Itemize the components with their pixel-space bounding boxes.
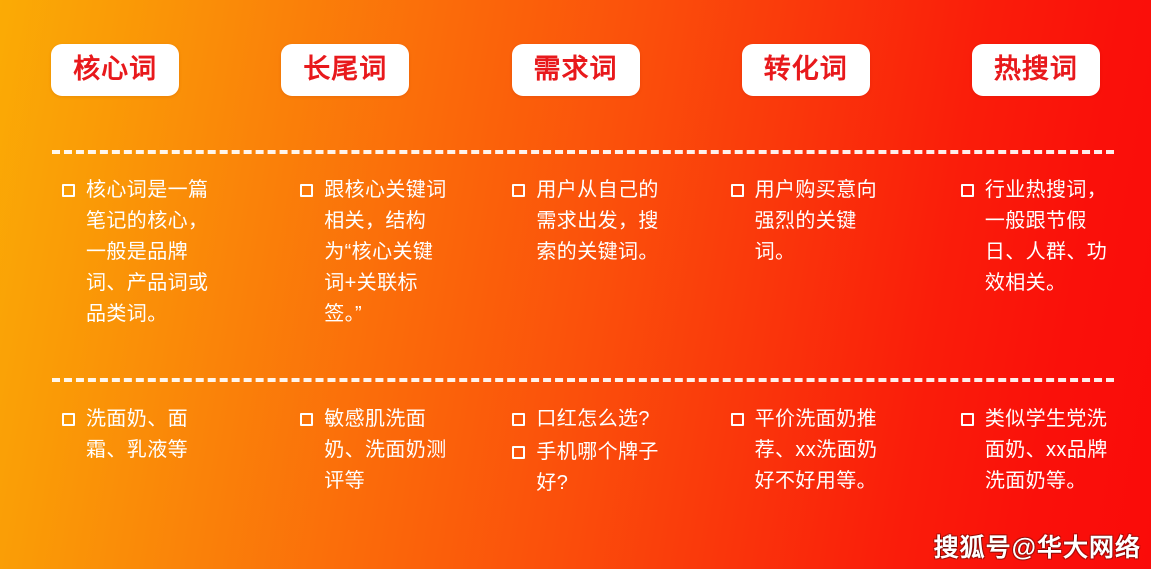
list-item: 类似学生党洗面奶、xx品牌洗面奶等。 bbox=[961, 404, 1151, 497]
square-bullet-icon bbox=[300, 184, 313, 197]
square-bullet-icon bbox=[62, 413, 75, 426]
example-text: 洗面奶、面霜、乳液等 bbox=[86, 404, 218, 466]
definition-column-hot-search-word: 行业热搜词，一般跟节假日、人群、功效相关。 bbox=[921, 175, 1151, 332]
list-item: 用户购买意向强烈的关键词。 bbox=[731, 175, 921, 268]
definition-column-conversion-word: 用户购买意向强烈的关键词。 bbox=[703, 175, 921, 332]
example-text: 手机哪个牌子好? bbox=[536, 437, 668, 499]
heading-cell-3: 转化词 bbox=[691, 44, 921, 110]
heading-cell-2: 需求词 bbox=[460, 44, 690, 110]
list-item: 手机哪个牌子好? bbox=[512, 437, 702, 499]
definition-text: 核心词是一篇笔记的核心，一般是品牌词、产品词或品类词。 bbox=[86, 175, 218, 330]
definition-column-demand-word: 用户从自己的需求出发，搜索的关键词。 bbox=[490, 175, 702, 332]
heading-cell-1: 长尾词 bbox=[230, 44, 460, 110]
definition-text: 用户从自己的需求出发，搜索的关键词。 bbox=[536, 175, 668, 268]
examples-column-conversion-word: 平价洗面奶推荐、xx洗面奶好不好用等。 bbox=[703, 404, 921, 501]
square-bullet-icon bbox=[512, 184, 525, 197]
square-bullet-icon bbox=[62, 184, 75, 197]
definitions-row: 核心词是一篇笔记的核心，一般是品牌词、产品词或品类词。 跟核心关键词相关，结构为… bbox=[0, 175, 1151, 332]
examples-column-hot-search-word: 类似学生党洗面奶、xx品牌洗面奶等。 bbox=[921, 404, 1151, 501]
heading-cell-0: 核心词 bbox=[0, 44, 230, 110]
heading-pill-hot-search-word: 热搜词 bbox=[972, 44, 1100, 96]
heading-pill-demand-word: 需求词 bbox=[512, 44, 640, 96]
keyword-type-infographic: 核心词 长尾词 需求词 转化词 热搜词 核心词是一篇笔记的核心，一般是品牌词、产… bbox=[0, 0, 1151, 569]
example-text: 敏感肌洗面奶、洗面奶测评等 bbox=[324, 404, 452, 497]
list-item: 核心词是一篇笔记的核心，一般是品牌词、产品词或品类词。 bbox=[62, 175, 252, 330]
watermark: 搜狐号@华大网络 bbox=[934, 528, 1141, 564]
definition-text: 行业热搜词，一般跟节假日、人群、功效相关。 bbox=[985, 175, 1125, 299]
divider-middle bbox=[52, 378, 1114, 382]
definition-text: 跟核心关键词相关，结构为“核心关键词+关联标签。” bbox=[324, 175, 452, 330]
examples-column-demand-word: 口红怎么选? 手机哪个牌子好? bbox=[490, 404, 702, 501]
examples-column-long-tail-word: 敏感肌洗面奶、洗面奶测评等 bbox=[252, 404, 490, 501]
definition-text: 用户购买意向强烈的关键词。 bbox=[755, 175, 887, 268]
square-bullet-icon bbox=[512, 446, 525, 459]
examples-row: 洗面奶、面霜、乳液等 敏感肌洗面奶、洗面奶测评等 口红怎么选? 手机哪个牌子好?… bbox=[0, 404, 1151, 501]
heading-pill-long-tail-word: 长尾词 bbox=[281, 44, 409, 96]
list-item: 用户从自己的需求出发，搜索的关键词。 bbox=[512, 175, 702, 268]
square-bullet-icon bbox=[961, 184, 974, 197]
list-item: 敏感肌洗面奶、洗面奶测评等 bbox=[300, 404, 490, 497]
square-bullet-icon bbox=[300, 413, 313, 426]
example-text: 类似学生党洗面奶、xx品牌洗面奶等。 bbox=[985, 404, 1125, 497]
square-bullet-icon bbox=[731, 413, 744, 426]
definition-column-long-tail-word: 跟核心关键词相关，结构为“核心关键词+关联标签。” bbox=[252, 175, 490, 332]
heading-pill-core-word: 核心词 bbox=[51, 44, 179, 96]
example-text: 平价洗面奶推荐、xx洗面奶好不好用等。 bbox=[755, 404, 887, 497]
heading-pill-row: 核心词 长尾词 需求词 转化词 热搜词 bbox=[0, 44, 1151, 110]
list-item: 洗面奶、面霜、乳液等 bbox=[62, 404, 252, 466]
list-item: 跟核心关键词相关，结构为“核心关键词+关联标签。” bbox=[300, 175, 490, 330]
square-bullet-icon bbox=[512, 413, 525, 426]
heading-cell-4: 热搜词 bbox=[921, 44, 1151, 110]
list-item: 口红怎么选? bbox=[512, 404, 702, 435]
example-text: 口红怎么选? bbox=[536, 404, 650, 435]
divider-top bbox=[52, 150, 1114, 154]
square-bullet-icon bbox=[731, 184, 744, 197]
heading-pill-conversion-word: 转化词 bbox=[742, 44, 870, 96]
list-item: 平价洗面奶推荐、xx洗面奶好不好用等。 bbox=[731, 404, 921, 497]
examples-column-core-word: 洗面奶、面霜、乳液等 bbox=[0, 404, 252, 501]
square-bullet-icon bbox=[961, 413, 974, 426]
definition-column-core-word: 核心词是一篇笔记的核心，一般是品牌词、产品词或品类词。 bbox=[0, 175, 252, 332]
list-item: 行业热搜词，一般跟节假日、人群、功效相关。 bbox=[961, 175, 1151, 299]
